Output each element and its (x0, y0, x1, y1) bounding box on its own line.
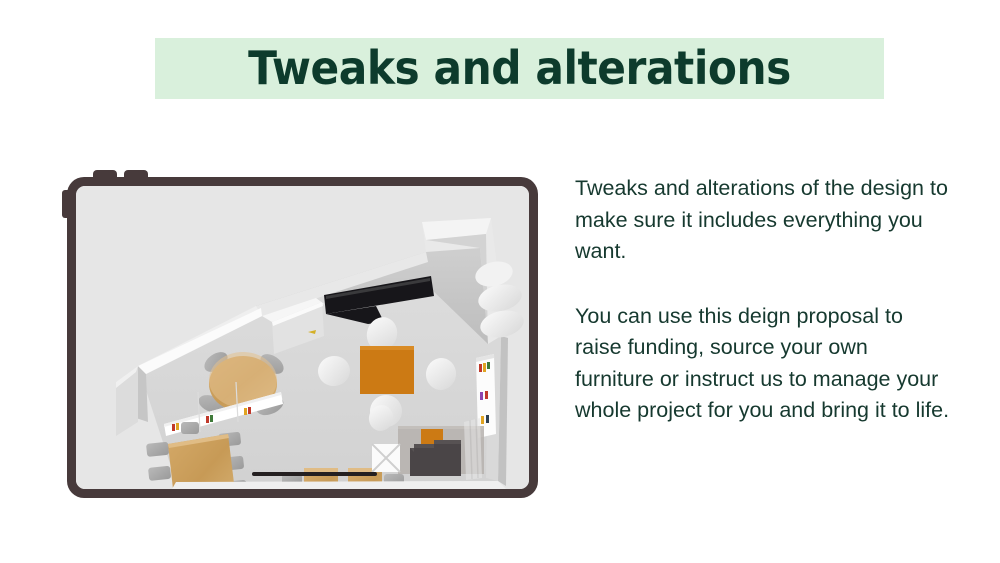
shelf-item (485, 391, 488, 399)
counter-item (248, 407, 251, 414)
floor-edge (172, 481, 506, 489)
shelf-item (487, 362, 490, 369)
shelf-item (483, 363, 486, 372)
counter-item (176, 423, 179, 430)
tablet-screen[interactable] (76, 186, 529, 489)
shelf-item (480, 392, 483, 400)
paragraph-1: Tweaks and alterations of the design to … (575, 173, 950, 268)
counter-item (210, 415, 213, 422)
tablet-device (62, 168, 538, 498)
window-glazing (464, 418, 482, 480)
paragraph-2: You can use this deign proposal to raise… (575, 301, 950, 427)
tablet-home-bar[interactable] (252, 472, 377, 476)
counter-item (206, 416, 209, 423)
grey-chair (146, 442, 169, 457)
page-title: Tweaks and alterations (184, 36, 855, 100)
counter-item (244, 408, 247, 415)
body-text-column: Tweaks and alterations of the design to … (575, 173, 950, 427)
orange-square-table (360, 346, 414, 394)
floorplan-render (76, 186, 529, 489)
white-side-table (372, 444, 400, 472)
grey-chair (148, 466, 171, 481)
shelf-item (486, 415, 489, 423)
shelf-item (479, 364, 482, 372)
grey-chair (181, 422, 199, 434)
shelf-item (481, 416, 484, 424)
counter-item (172, 424, 175, 431)
